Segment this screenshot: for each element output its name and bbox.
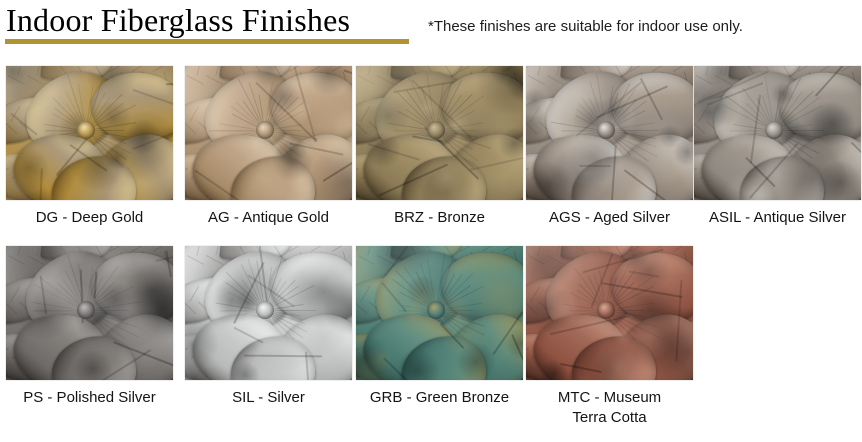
finish-swatch-image[interactable] <box>185 246 352 380</box>
swatch-row-1: DG - Deep GoldAG - Antique GoldBRZ - Bro… <box>0 66 862 246</box>
finish-swatch-label: GRB - Green Bronze <box>356 388 523 408</box>
finish-swatch-ag[interactable]: AG - Antique Gold <box>185 66 352 200</box>
swatch-row-2: PS - Polished SilverSIL - SilverGRB - Gr… <box>0 246 862 426</box>
finish-swatch-image[interactable] <box>6 66 173 200</box>
finish-swatch-ps[interactable]: PS - Polished Silver <box>6 246 173 380</box>
title-underline-rule <box>5 39 409 44</box>
finish-swatch-image[interactable] <box>6 246 173 380</box>
page-subtitle: *These finishes are suitable for indoor … <box>428 18 743 36</box>
finish-swatch-label: SIL - Silver <box>185 388 352 408</box>
finish-swatch-image[interactable] <box>185 66 352 200</box>
tile-flower-core <box>427 121 445 139</box>
page-header: Indoor Fiberglass Finishes *These finish… <box>0 0 862 58</box>
tile-relief-crack <box>166 83 173 85</box>
tile-flower-core <box>597 121 615 139</box>
finish-swatch-image[interactable] <box>526 66 693 200</box>
finish-swatch-label: DG - Deep Gold <box>6 208 173 228</box>
finish-swatch-label: AGS - Aged Silver <box>526 208 693 228</box>
finish-swatch-grb[interactable]: GRB - Green Bronze <box>356 246 523 380</box>
finish-swatch-label: MTC - MuseumTerra Cotta <box>504 388 715 428</box>
tile-flower-core <box>256 301 274 319</box>
finish-swatch-label: AG - Antique Gold <box>185 208 352 228</box>
finish-swatch-sil[interactable]: SIL - Silver <box>185 246 352 380</box>
tile-flower-core <box>597 301 615 319</box>
finish-swatch-dg[interactable]: DG - Deep Gold <box>6 66 173 200</box>
finish-swatch-brz[interactable]: BRZ - Bronze <box>356 66 523 200</box>
finish-swatch-asil[interactable]: ASIL - Antique Silver <box>694 66 861 200</box>
finish-swatch-label: PS - Polished Silver <box>0 388 195 408</box>
tile-flower-core <box>77 301 95 319</box>
finish-swatch-image[interactable] <box>356 66 523 200</box>
finish-swatch-image[interactable] <box>694 66 861 200</box>
tile-flower-core <box>427 301 445 319</box>
finish-swatch-grid: DG - Deep GoldAG - Antique GoldBRZ - Bro… <box>0 66 862 426</box>
finish-swatch-image[interactable] <box>526 246 693 380</box>
finish-swatch-label: BRZ - Bronze <box>356 208 523 228</box>
finishes-page: Indoor Fiberglass Finishes *These finish… <box>0 0 862 442</box>
finish-swatch-image[interactable] <box>356 246 523 380</box>
finish-swatch-label: ASIL - Antique Silver <box>672 208 862 228</box>
tile-flower-core <box>765 121 783 139</box>
page-title: Indoor Fiberglass Finishes <box>6 2 350 38</box>
finish-swatch-mtc[interactable]: MTC - MuseumTerra Cotta <box>526 246 693 380</box>
finish-swatch-ags[interactable]: AGS - Aged Silver <box>526 66 693 200</box>
tile-flower-core <box>77 121 95 139</box>
tile-flower-core <box>256 121 274 139</box>
